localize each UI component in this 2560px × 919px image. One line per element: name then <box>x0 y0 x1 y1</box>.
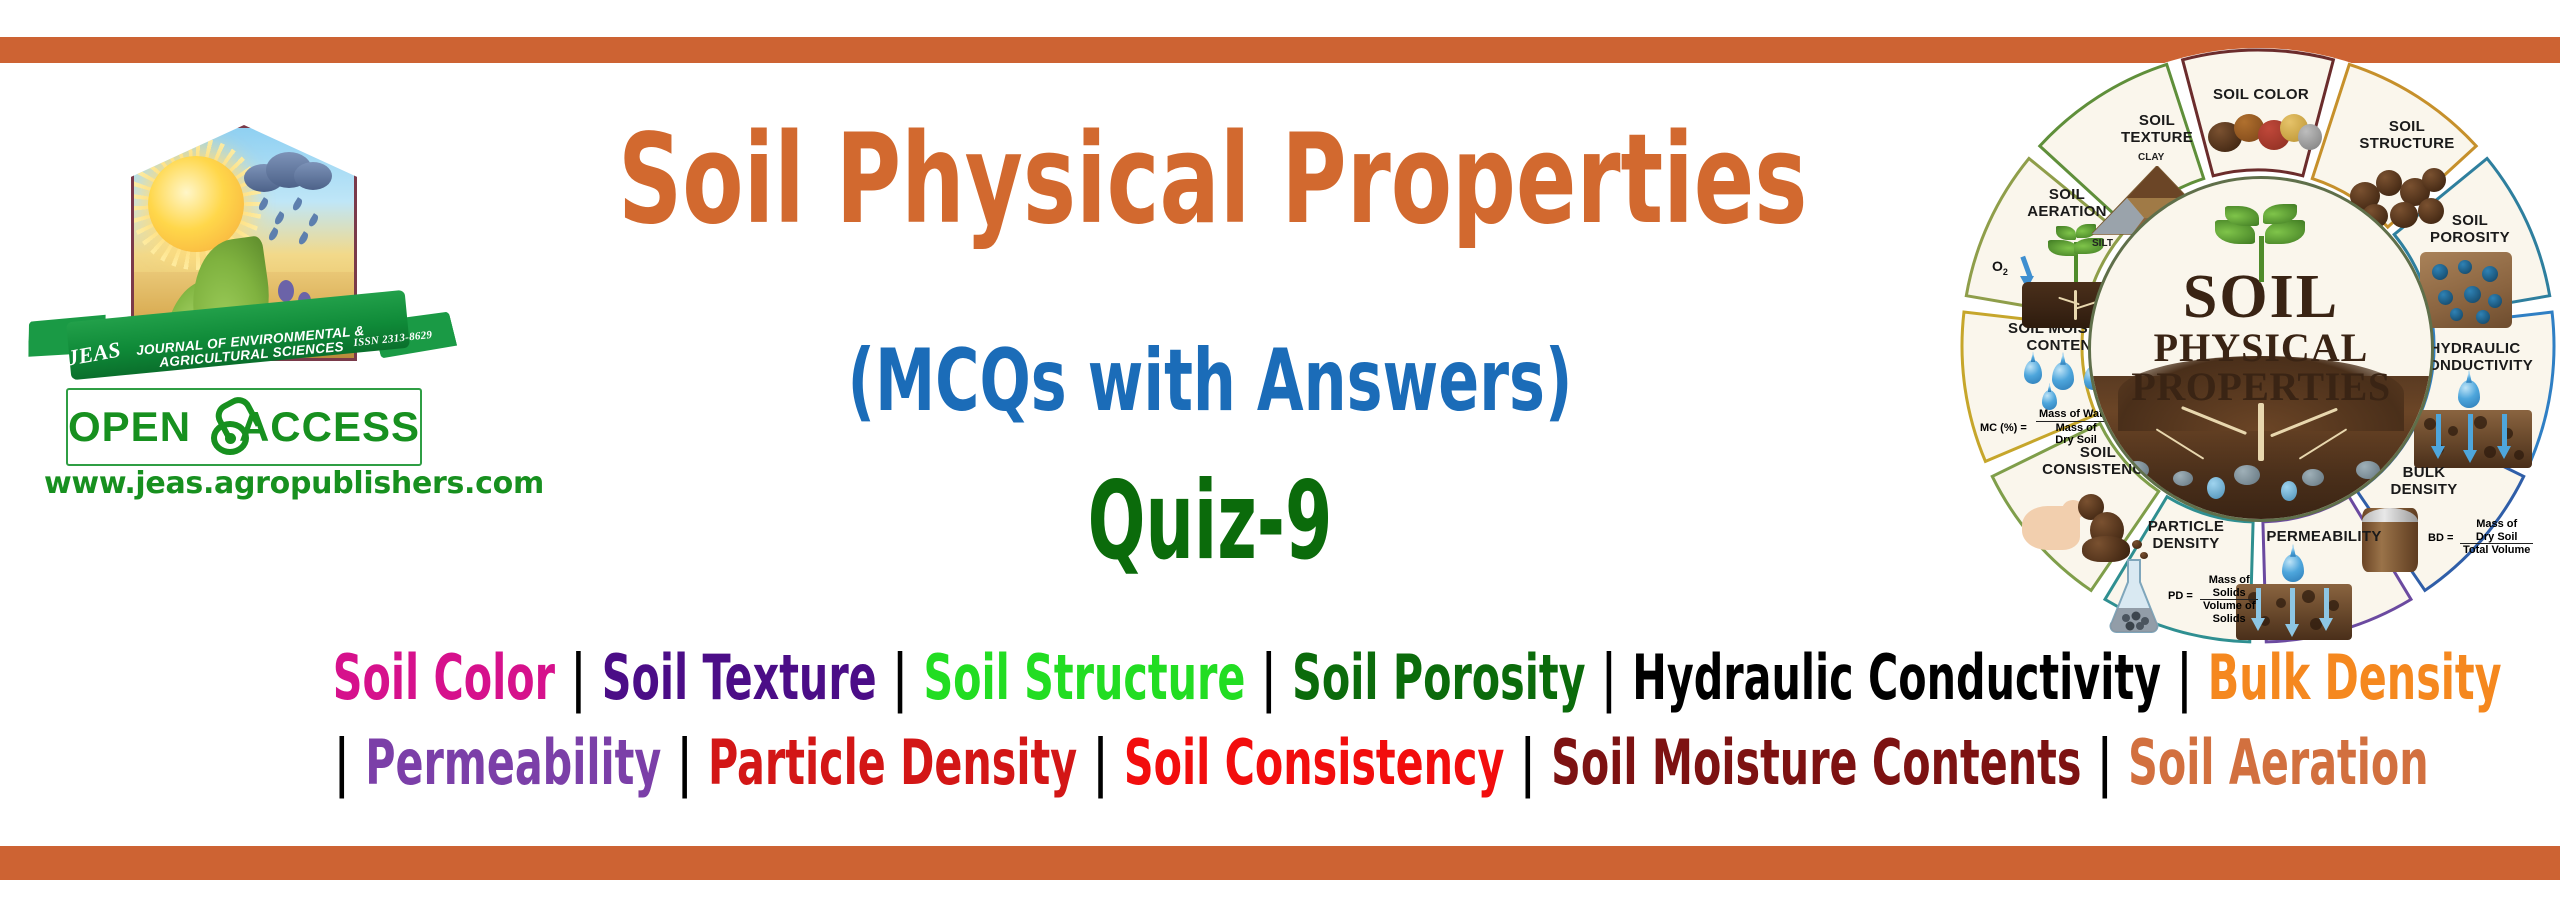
soil-porosity-art <box>2420 246 2518 332</box>
page-subtitle: (MCQs with Answers) <box>633 338 1787 424</box>
keyword-hydraulic-conductivity: Hydraulic Conductivity <box>1632 641 2161 714</box>
center-sprout-icon <box>2221 206 2301 282</box>
center-title-line2: PHYSICAL <box>2091 328 2431 367</box>
soil-physical-properties-wheel: SOIL COLOR SOILSTRUCTURE SOILPOROSITY <box>1958 48 2558 644</box>
journal-logo-block: JEAS JOURNAL OF ENVIRONMENTAL & AGRICULT… <box>26 120 466 550</box>
keyword-separator: | <box>333 726 365 799</box>
segment-label-soil-structure: SOILSTRUCTURE <box>2342 118 2472 152</box>
quiz-number: Quiz-9 <box>692 468 1728 576</box>
journal-url[interactable]: www.jeas.agropublishers.com <box>44 466 444 501</box>
moisture-eq-lhs: MC (%) = <box>1980 422 2027 434</box>
keyword-separator: | <box>2081 726 2128 799</box>
keyword-separator: | <box>2161 641 2208 714</box>
page-title: Soil Physical Properties <box>618 118 1802 242</box>
segment-label-soil-color: SOIL COLOR <box>2186 86 2336 103</box>
keyword-list: Soil Color | Soil Texture | Soil Structu… <box>0 646 2560 794</box>
segment-label-permeability: PERMEABILITY <box>2244 528 2404 545</box>
particle-density-formula: Mass ofSolids Volume ofSolids <box>2200 574 2258 626</box>
keyword-soil-structure: Soil Structure <box>923 641 1245 714</box>
wheel-center-title: SOIL PHYSICAL PROPERTIES <box>2091 267 2431 406</box>
keyword-soil-aeration: Soil Aeration <box>2128 726 2429 799</box>
o2-label: O2 <box>1992 258 2008 277</box>
texture-label-silt: SILT <box>2092 238 2113 249</box>
keyword-separator: | <box>1245 641 1292 714</box>
keyword-line-1: Soil Color | Soil Texture | Soil Structu… <box>333 646 2227 709</box>
access-label: ACCESS <box>239 406 420 448</box>
keyword-soil-moisture-contents: Soil Moisture Contents <box>1551 726 2081 799</box>
keyword-separator: | <box>1077 726 1124 799</box>
bulk-density-formula: Mass ofDry Soil Total Volume <box>2460 518 2533 557</box>
bulk-density-eq-lhs: BD = <box>2428 532 2453 544</box>
particle-density-eq-lhs: PD = <box>2168 590 2193 602</box>
particle-density-art: PD = Mass ofSolids Volume ofSolids <box>2102 556 2268 640</box>
journal-ribbon: JEAS JOURNAL OF ENVIRONMENTAL & AGRICULT… <box>26 298 456 376</box>
keyword-bulk-density: Bulk Density <box>2208 641 2502 714</box>
keyword-soil-color: Soil Color <box>333 641 555 714</box>
segment-label-soil-porosity: SOILPOROSITY <box>2410 212 2530 246</box>
keyword-soil-consistency: Soil Consistency <box>1124 726 1505 799</box>
keyword-permeability: Permeability <box>365 726 661 799</box>
center-title-line3: PROPERTIES <box>2091 367 2431 406</box>
keyword-separator: | <box>555 641 602 714</box>
keyword-separator: | <box>1504 726 1551 799</box>
open-label: OPEN <box>68 406 191 448</box>
texture-label-clay: CLAY <box>2138 152 2164 163</box>
keyword-line-2: | Permeability | Particle Density | Soil… <box>333 731 2227 794</box>
open-access-lock-icon <box>209 399 221 455</box>
bottom-accent-bar <box>0 846 2560 880</box>
open-access-badge: OPEN ACCESS <box>66 388 422 466</box>
keyword-separator: | <box>877 641 924 714</box>
keyword-particle-density: Particle Density <box>708 726 1077 799</box>
keyword-soil-texture: Soil Texture <box>602 641 877 714</box>
keyword-separator: | <box>1586 641 1633 714</box>
keyword-separator: | <box>661 726 708 799</box>
keyword-soil-porosity: Soil Porosity <box>1292 641 1585 714</box>
wheel-center: SOIL PHYSICAL PROPERTIES <box>2088 176 2434 522</box>
segment-label-soil-texture: SOILTEXTURE <box>2092 112 2222 146</box>
banner-root: JEAS JOURNAL OF ENVIRONMENTAL & AGRICULT… <box>0 0 2560 919</box>
